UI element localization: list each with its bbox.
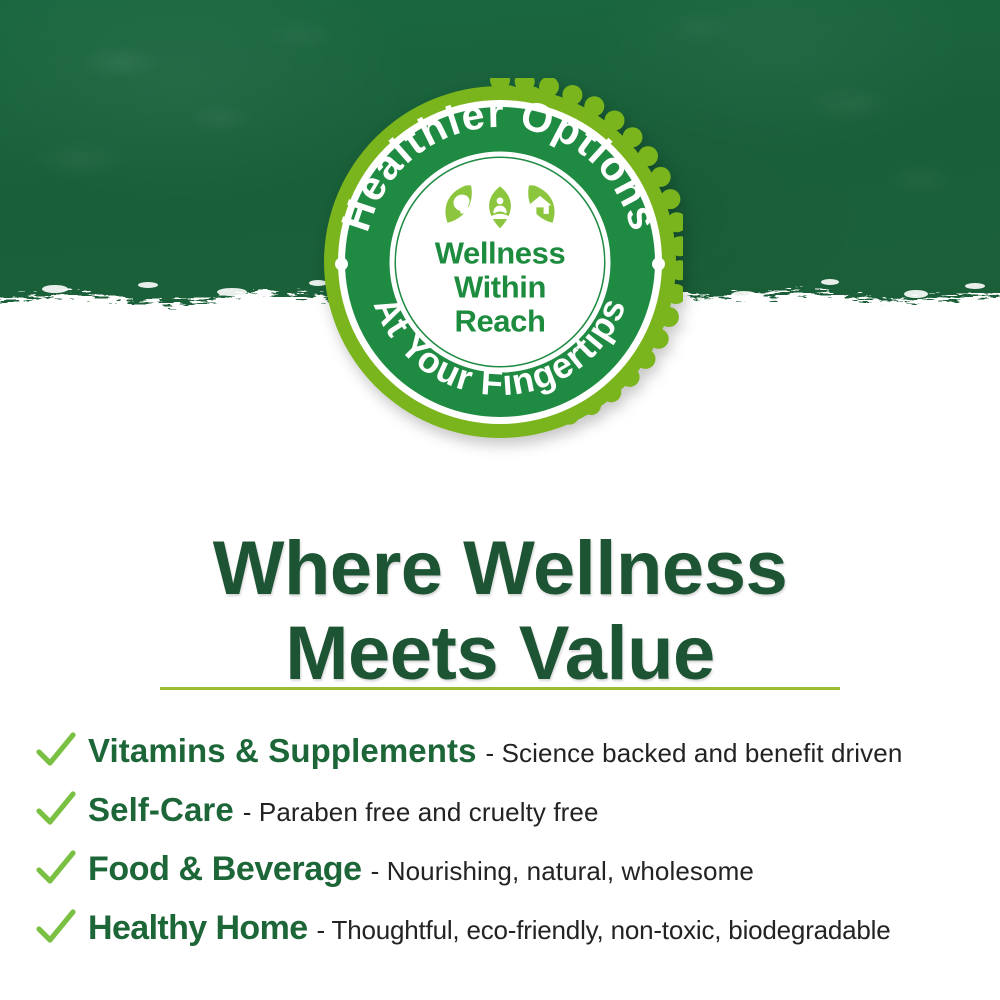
checkmark-icon [36, 850, 76, 890]
list-item-title: Self-Care [88, 791, 234, 829]
list-item-title: Food & Beverage [88, 850, 362, 889]
list-item-desc: - Thoughtful, eco-friendly, non-toxic, b… [317, 915, 891, 946]
page-headline: Where Wellness Meets Value [0, 526, 1000, 696]
checkmark-icon [36, 791, 76, 831]
list-item: Vitamins & Supplements - Science backed … [0, 722, 1000, 781]
list-item-desc: - Nourishing, natural, wholesome [371, 856, 754, 887]
checkmark-icon [36, 732, 76, 772]
badge-bullet-left-icon [335, 258, 348, 271]
list-item: Food & Beverage - Nourishing, natural, w… [0, 840, 1000, 899]
badge-bullet-right-icon [652, 258, 665, 271]
badge-graphic: Healthier Options At Your Fingertips [317, 78, 683, 446]
checkmark-icon [36, 909, 76, 949]
list-item-title: Vitamins & Supplements [88, 732, 477, 770]
list-item-desc: - Paraben free and cruelty free [243, 797, 599, 828]
promo-banner: Healthier Options At Your Fingertips [0, 0, 1000, 1000]
list-item: Self-Care - Paraben free and cruelty fre… [0, 781, 1000, 840]
headline-line-1: Where Wellness [0, 526, 1000, 611]
list-item-title: Healthy Home [88, 909, 308, 948]
list-item: Healthy Home - Thoughtful, eco-friendly,… [0, 899, 1000, 958]
wellness-badge: Healthier Options At Your Fingertips [317, 78, 683, 446]
benefits-list: Vitamins & Supplements - Science backed … [0, 722, 1000, 958]
headline-divider [160, 687, 840, 690]
headline-line-2: Meets Value [0, 611, 1000, 696]
list-item-desc: - Science backed and benefit driven [486, 738, 903, 769]
